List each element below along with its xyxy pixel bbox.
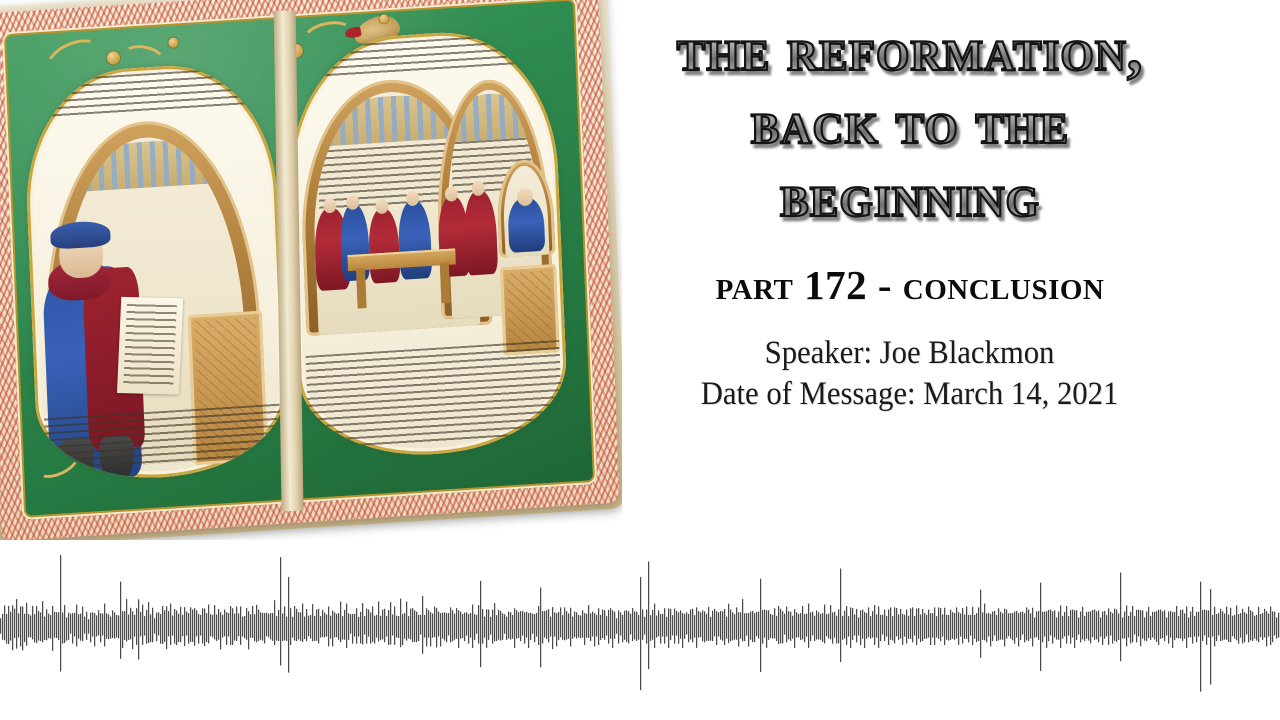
title-line-1: The Reformation,: [677, 14, 1144, 87]
speaker-line: Speaker: Joe Blackmon: [701, 333, 1119, 374]
title-line-3: Beginning: [780, 160, 1040, 233]
table-leg: [440, 263, 451, 304]
gold-boss-dot: [107, 51, 121, 65]
window-tracery: [447, 91, 533, 142]
manuscript-right-page: [284, 26, 569, 463]
script-text-lines: [306, 340, 564, 452]
window-tracery: [313, 91, 469, 147]
title-block: The Reformation, Back to the Beginning P…: [540, 0, 1280, 540]
waveform-graphic: [0, 540, 1280, 720]
date-line: Date of Message: March 14, 2021: [701, 374, 1119, 415]
part-subtitle: Part 172 - Conclusion: [716, 259, 1105, 311]
gold-boss-dot: [168, 37, 178, 48]
presentation-slide: The Reformation, Back to the Beginning P…: [0, 0, 1280, 720]
manuscript-left-page: [22, 60, 289, 485]
title-line-2: Back to the: [751, 87, 1069, 160]
audio-waveform-track[interactable]: [0, 540, 1280, 720]
open-scroll-sheet: [117, 297, 183, 395]
table-leg: [356, 268, 367, 309]
metadata-block: Speaker: Joe Blackmon Date of Message: M…: [685, 333, 1134, 415]
window-tracery: [59, 136, 235, 193]
manuscript-artwork: [0, 0, 622, 570]
